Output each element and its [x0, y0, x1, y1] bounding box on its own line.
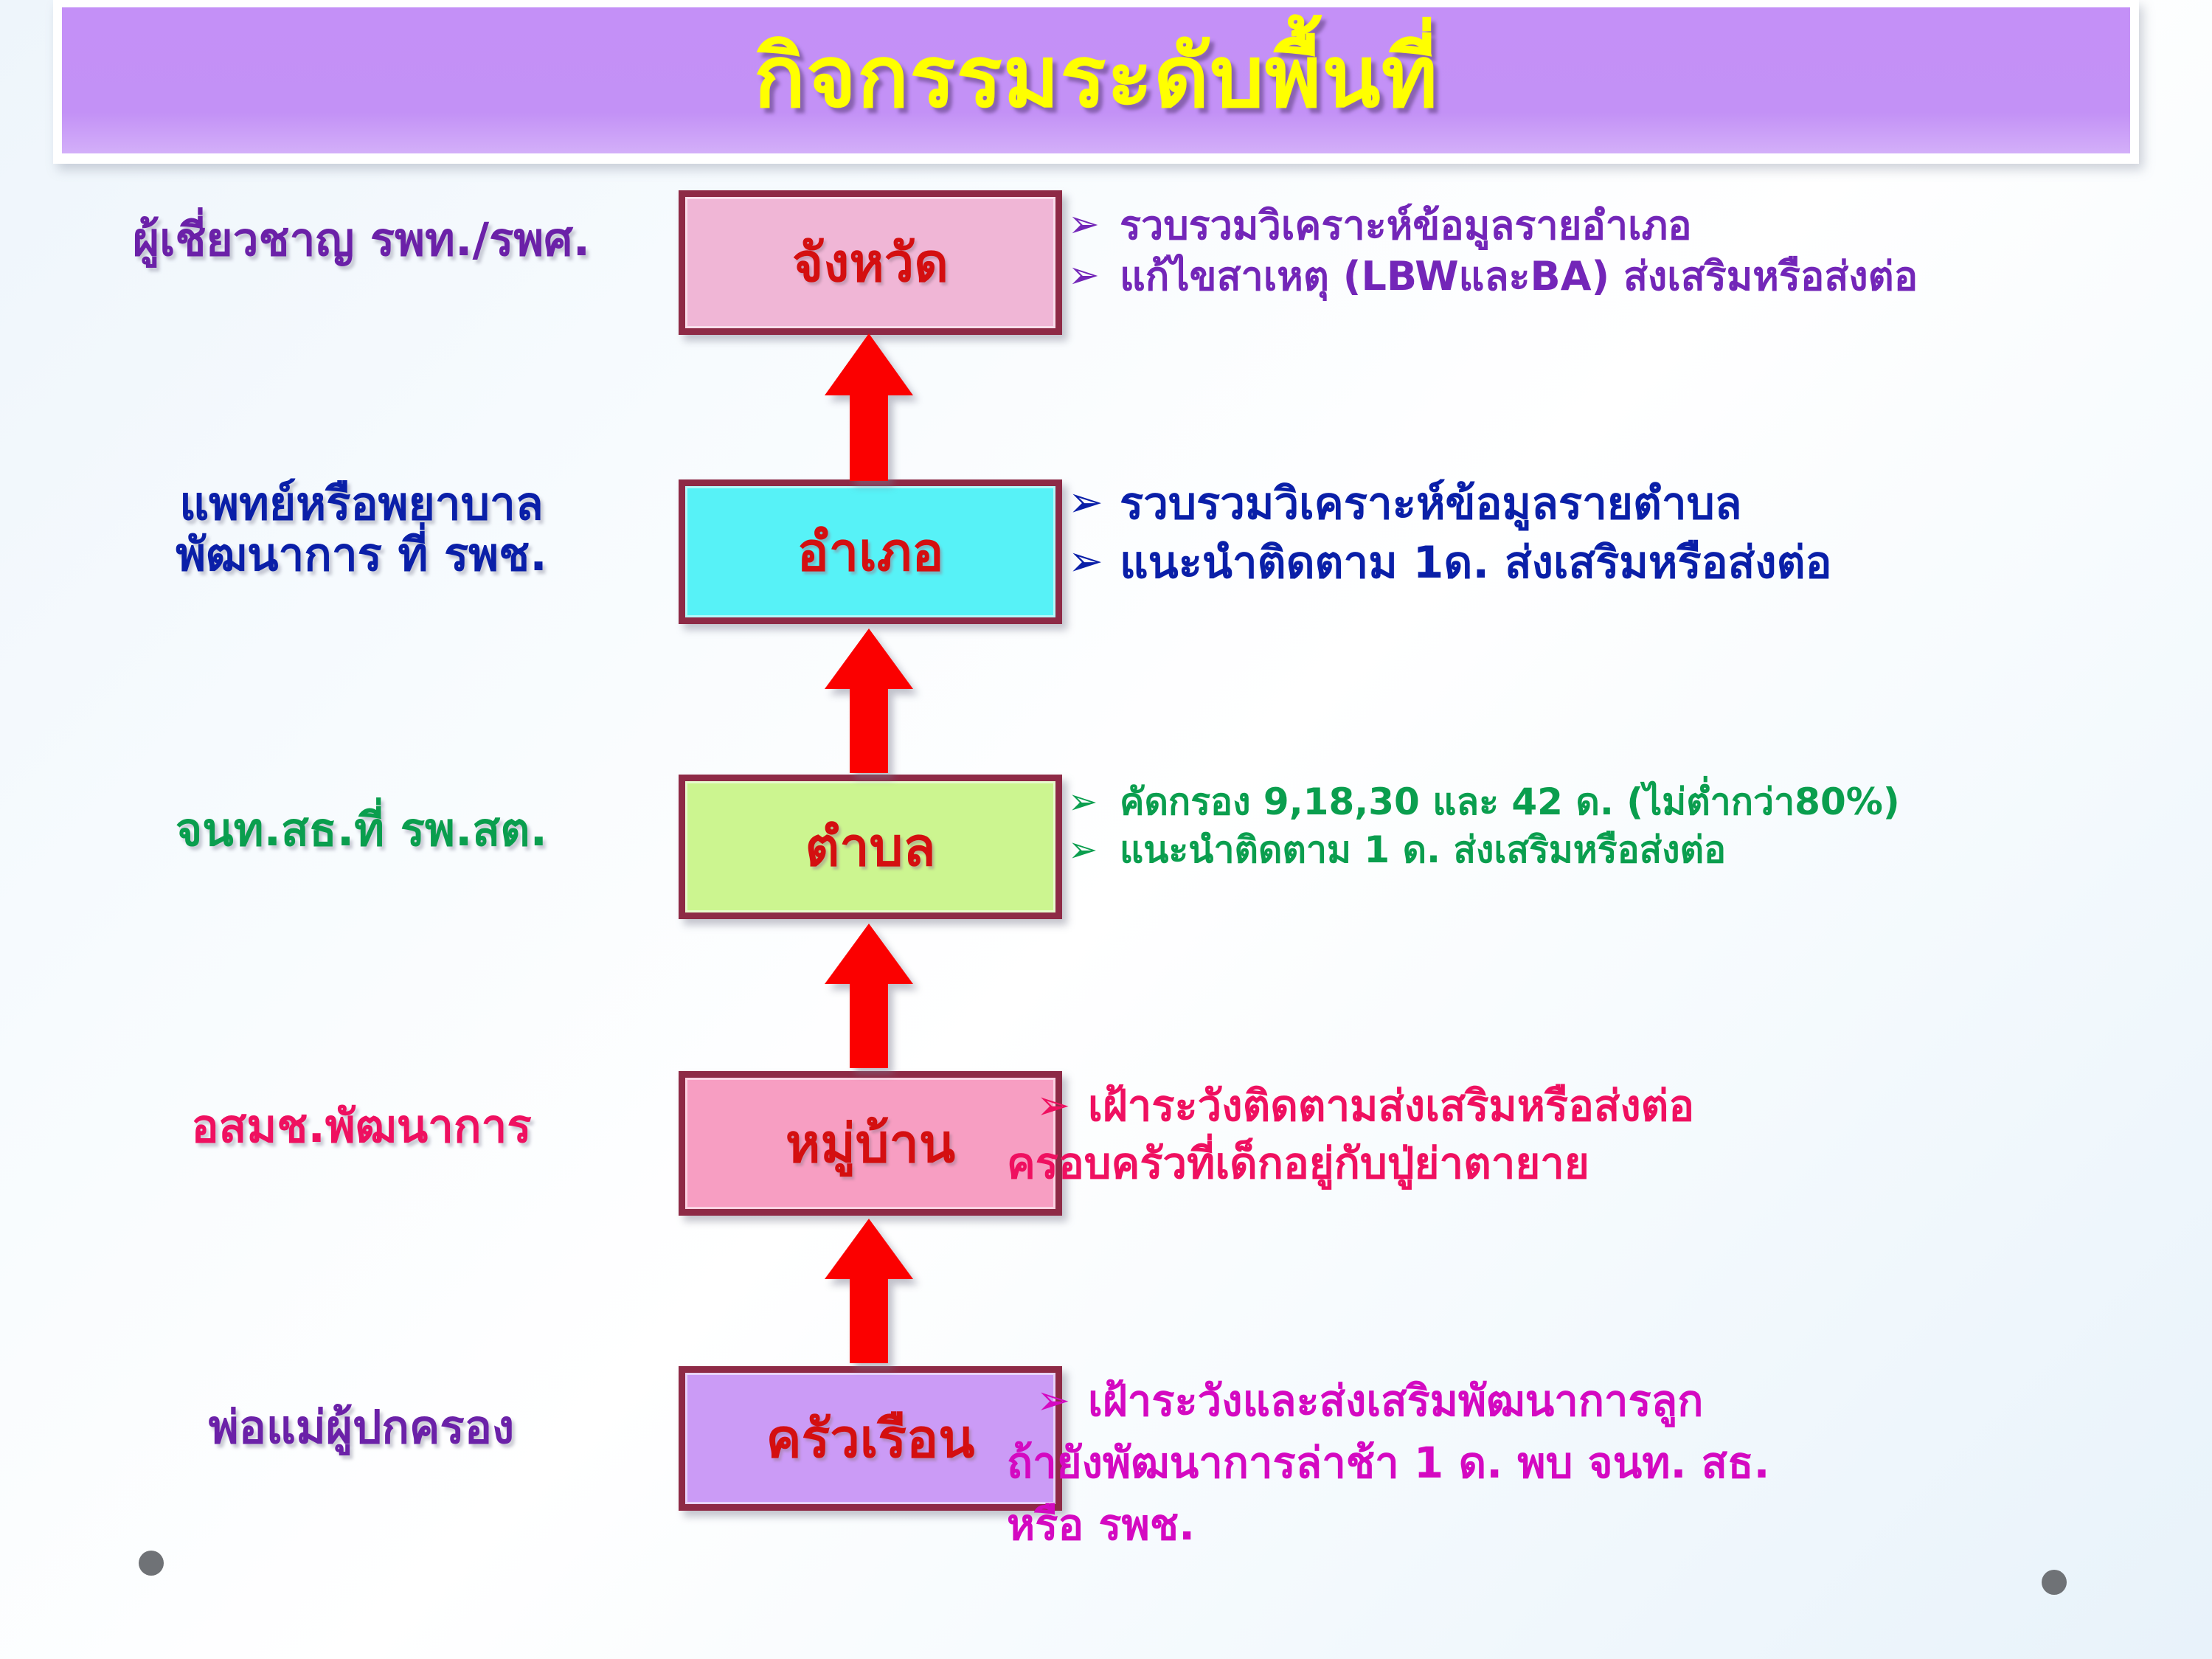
node-box-label: ตำบล [805, 820, 935, 873]
bullet-item: ➢แนะนำติดตาม 1ด. ส่งเสริมหรือส่งต่อ [1068, 538, 1832, 587]
bullet-text: แนะนำติดตาม 1ด. ส่งเสริมหรือส่งต่อ [1120, 538, 1832, 587]
bullet-text: เฝ้าระวังติดตามส่งเสริมหรือส่งต่อ [1088, 1083, 1694, 1130]
actor-label-line1: พ่อแม่ผู้ปกครอง [44, 1402, 679, 1452]
actor-label-line2: พัฒนาการ ที่ รพช. [44, 529, 679, 580]
bullet-list-4: ➢เฝ้าระวังติดตามส่งเสริมหรือส่งต่อครอบคร… [1036, 1083, 1694, 1198]
actor-label-line1: อสมช.พัฒนาการ [44, 1101, 679, 1151]
flow-arrow-up-2 [823, 628, 915, 773]
flow-arrow-up-3 [823, 924, 915, 1068]
bullet-list-1: ➢รวบรวมวิเคราะห์ข้อมูลรายอำเภอ➢แก้ไขสาเห… [1068, 204, 1918, 306]
actor-label-1: ผู้เชี่ยวชาญ รพท./รพศ. [44, 214, 679, 265]
actor-label-line1: จนท.สธ.ที่ รพ.สต. [44, 804, 679, 855]
node-box-inner: หมู่บ้าน [685, 1078, 1055, 1209]
bullet-text: รวบรวมวิเคราะห์ข้อมูลรายตำบล [1120, 479, 1741, 528]
bullet-item: ➢แนะนำติดตาม 1 ด. ส่งเสริมหรือส่งต่อ [1068, 830, 1900, 870]
node-box-5[interactable]: ครัวเรือน [679, 1366, 1062, 1511]
slide-title-bar: กิจกรรมระดับพื้นที่ [53, 0, 2139, 164]
node-box-label: ครัวเรือน [766, 1412, 974, 1465]
decorative-dot-left [139, 1551, 164, 1576]
node-box-3[interactable]: ตำบล [679, 775, 1062, 919]
node-box-label: อำเภอ [797, 525, 944, 578]
bullet-list-3: ➢คัดกรอง 9,18,30 และ 42 ด. (ไม่ต่ำกว่า80… [1068, 782, 1900, 878]
bullet-item: ➢คัดกรอง 9,18,30 และ 42 ด. (ไม่ต่ำกว่า80… [1068, 782, 1900, 822]
bullet-continuation: หรือ รพช. [1007, 1502, 1770, 1549]
actor-label-4: อสมช.พัฒนาการ [44, 1101, 679, 1151]
bullet-item: ➢เฝ้าระวังและส่งเสริมพัฒนาการลูก [1036, 1378, 1770, 1425]
node-box-inner: อำเภอ [685, 486, 1055, 617]
actor-label-3: จนท.สธ.ที่ รพ.สต. [44, 804, 679, 855]
bullet-list-2: ➢รวบรวมวิเคราะห์ข้อมูลรายตำบล➢แนะนำติดตา… [1068, 479, 1832, 598]
bullet-arrow-icon: ➢ [1036, 1379, 1088, 1422]
bullet-arrow-icon: ➢ [1068, 540, 1120, 584]
bullet-text: เฝ้าระวังและส่งเสริมพัฒนาการลูก [1088, 1378, 1703, 1425]
bullet-text: แนะนำติดตาม 1 ด. ส่งเสริมหรือส่งต่อ [1120, 830, 1726, 870]
bullet-text: รวบรวมวิเคราะห์ข้อมูลรายอำเภอ [1120, 204, 1692, 247]
flow-arrow-up-4 [823, 1219, 915, 1363]
node-box-4[interactable]: หมู่บ้าน [679, 1071, 1062, 1216]
bullet-text: แก้ไขสาเหตุ (LBWและBA) ส่งเสริมหรือส่งต่… [1120, 254, 1918, 298]
bullet-arrow-icon: ➢ [1068, 256, 1120, 296]
node-box-inner: จังหวัด [685, 197, 1055, 328]
node-box-inner: ครัวเรือน [685, 1373, 1055, 1504]
node-box-1[interactable]: จังหวัด [679, 190, 1062, 335]
actor-label-5: พ่อแม่ผู้ปกครอง [44, 1402, 679, 1452]
node-box-label: หมู่บ้าน [786, 1117, 955, 1170]
bullet-item: ➢แก้ไขสาเหตุ (LBWและBA) ส่งเสริมหรือส่งต… [1068, 254, 1918, 298]
actor-label-line1: ผู้เชี่ยวชาญ รพท./รพศ. [44, 214, 679, 265]
bullet-arrow-icon: ➢ [1068, 205, 1120, 245]
actor-label-line1: แพทย์หรือพยาบาล [44, 478, 679, 529]
bullet-item: ➢รวบรวมวิเคราะห์ข้อมูลรายตำบล [1068, 479, 1832, 528]
flow-arrow-up-1 [823, 333, 915, 481]
page-title: กิจกรรมระดับพื้นที่ [754, 35, 1438, 120]
decorative-dot-right [2042, 1570, 2067, 1595]
bullet-list-5: ➢เฝ้าระวังและส่งเสริมพัฒนาการลูกถ้ายังพั… [1036, 1378, 1770, 1563]
bullet-item: ➢รวบรวมวิเคราะห์ข้อมูลรายอำเภอ [1068, 204, 1918, 247]
node-box-inner: ตำบล [685, 781, 1055, 912]
slide-title-fill: กิจกรรมระดับพื้นที่ [62, 7, 2130, 153]
bullet-arrow-icon: ➢ [1068, 783, 1120, 820]
bullet-arrow-icon: ➢ [1068, 831, 1120, 868]
bullet-continuation: ครอบครัวที่เด็กอยู่กับปู่ย่าตายาย [1007, 1140, 1694, 1188]
bullet-item: ➢เฝ้าระวังติดตามส่งเสริมหรือส่งต่อ [1036, 1083, 1694, 1130]
bullet-text: คัดกรอง 9,18,30 และ 42 ด. (ไม่ต่ำกว่า80%… [1120, 782, 1900, 822]
bullet-continuation: ถ้ายังพัฒนาการล่าช้า 1 ด. พบ จนท. สธ. [1007, 1440, 1770, 1487]
actor-label-2: แพทย์หรือพยาบาลพัฒนาการ ที่ รพช. [44, 478, 679, 581]
node-box-2[interactable]: อำเภอ [679, 479, 1062, 624]
bullet-arrow-icon: ➢ [1068, 481, 1120, 525]
bullet-arrow-icon: ➢ [1036, 1084, 1088, 1127]
node-box-label: จังหวัด [792, 236, 949, 289]
